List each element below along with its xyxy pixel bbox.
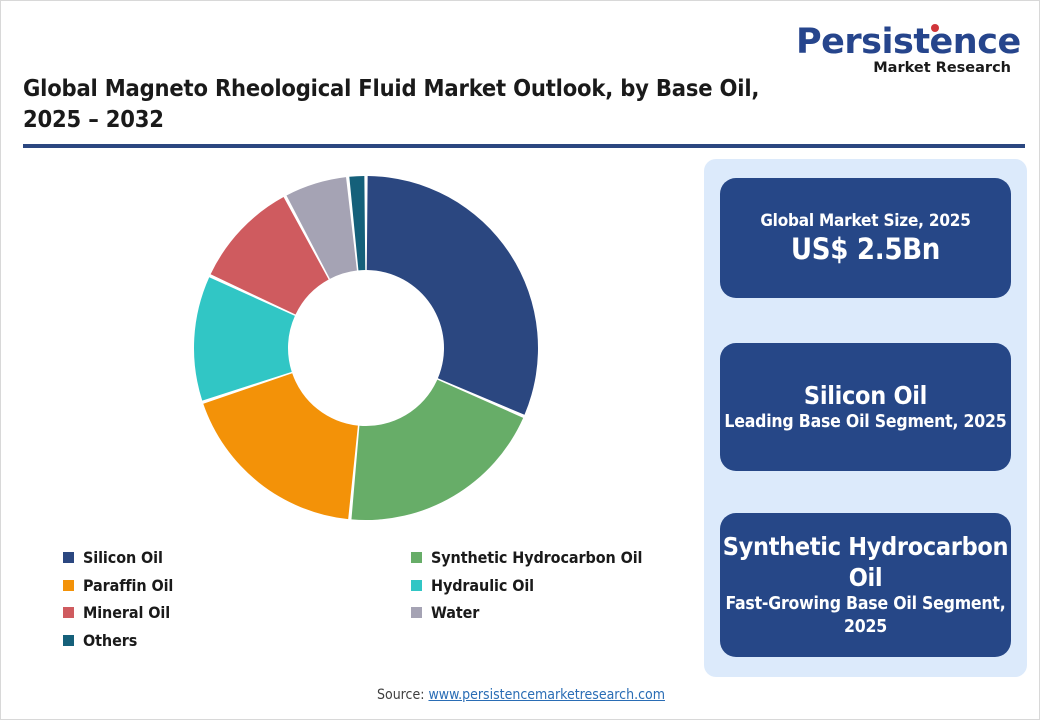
legend-item-hydraulic-oil[interactable]: Hydraulic Oil [411, 572, 642, 600]
donut-chart-svg [21, 156, 681, 556]
legend-label: Mineral Oil [83, 603, 170, 622]
legend-item-paraffin-oil[interactable]: Paraffin Oil [63, 572, 173, 600]
legend-swatch-icon [411, 552, 422, 563]
legend-label: Silicon Oil [83, 548, 163, 567]
legend-label: Others [83, 631, 137, 650]
kpi-card-fast-growing-segment[interactable]: Synthetic Hydrocarbon Oil Fast-Growing B… [720, 513, 1011, 657]
legend-item-water[interactable]: Water [411, 599, 642, 627]
kpi-subtext: Leading Base Oil Segment, 2025 [724, 411, 1006, 434]
legend-swatch-icon [63, 580, 74, 591]
legend-item-synthetic-hydrocarbon-oil[interactable]: Synthetic Hydrocarbon Oil [411, 544, 642, 572]
kpi-value: Silicon Oil [804, 380, 927, 411]
legend-label: Synthetic Hydrocarbon Oil [431, 548, 642, 567]
legend-column-left: Silicon Oil Paraffin Oil Mineral Oil Oth… [63, 544, 173, 654]
kpi-subtext: Fast-Growing Base Oil Segment, 2025 [720, 593, 1011, 639]
kpi-value: US$ 2.5Bn [791, 232, 940, 267]
donut-slice[interactable] [367, 176, 538, 415]
donut-chart [21, 156, 681, 556]
donut-slice-group [194, 176, 538, 520]
legend-label: Paraffin Oil [83, 576, 173, 595]
legend-swatch-icon [63, 635, 74, 646]
legend-swatch-icon [411, 580, 422, 591]
legend-item-others[interactable]: Others [63, 627, 173, 655]
donut-slice[interactable] [203, 373, 358, 519]
legend-item-silicon-oil[interactable]: Silicon Oil [63, 544, 173, 572]
kpi-card-leading-segment[interactable]: Silicon Oil Leading Base Oil Segment, 20… [720, 343, 1011, 471]
legend-swatch-icon [63, 552, 74, 563]
kpi-caption: Global Market Size, 2025 [760, 210, 970, 232]
chart-legend: Silicon Oil Paraffin Oil Mineral Oil Oth… [63, 544, 703, 654]
legend-item-mineral-oil[interactable]: Mineral Oil [63, 599, 173, 627]
source-line: Source: www.persistencemarketresearch.co… [1, 687, 1040, 703]
legend-label: Water [431, 603, 479, 622]
source-link[interactable]: www.persistencemarketresearch.com [428, 687, 665, 703]
logo-dot-icon [931, 24, 939, 32]
legend-label: Hydraulic Oil [431, 576, 534, 595]
page-title: Global Magneto Rheological Fluid Market … [23, 73, 763, 135]
title-divider [23, 144, 1025, 148]
infographic-root: Persistence Market Research Global Magne… [0, 0, 1040, 720]
kpi-card-market-size[interactable]: Global Market Size, 2025 US$ 2.5Bn [720, 178, 1011, 298]
legend-swatch-icon [411, 607, 422, 618]
persistence-market-research-logo: Persistence Market Research [796, 23, 1011, 75]
logo-tagline: Market Research [796, 60, 1011, 76]
kpi-value: Synthetic Hydrocarbon Oil [720, 531, 1011, 593]
kpi-side-panel: Global Market Size, 2025 US$ 2.5Bn Silic… [704, 159, 1027, 677]
legend-column-right: Synthetic Hydrocarbon Oil Hydraulic Oil … [411, 544, 642, 627]
source-label: Source: [377, 687, 428, 703]
logo-wordmark: Persistence [796, 23, 1011, 61]
legend-swatch-icon [63, 607, 74, 618]
